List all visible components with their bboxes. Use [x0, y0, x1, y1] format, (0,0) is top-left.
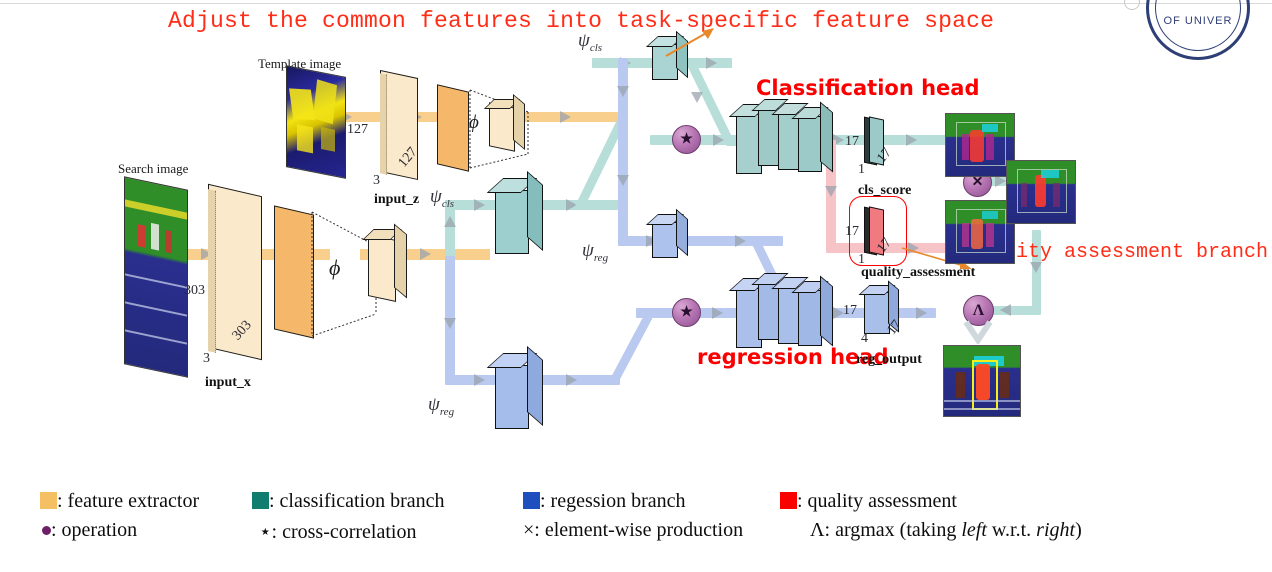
seal-text: OF UNIVER [1149, 15, 1247, 27]
arrow-head [444, 318, 456, 329]
arrow-head [560, 111, 571, 123]
reg-output-label: reg_output [856, 352, 922, 368]
psi-reg-cube-bottom-sideface [527, 346, 543, 426]
cross-correlation-operator-reg[interactable]: ★ [672, 298, 701, 327]
psi-cls-cube-mid-front [495, 190, 529, 254]
classification-response-map [945, 113, 1015, 177]
input-z-slab-depth [380, 73, 387, 174]
template-feature-cube [489, 102, 515, 152]
psi-cls-top-label: ψcls [578, 30, 602, 54]
arrow-head [825, 186, 837, 197]
legend-item-operation: : operation [42, 519, 137, 542]
search-feature-cube [368, 234, 396, 302]
legend-label: ) [1075, 519, 1082, 541]
legend-label: : quality assessment [797, 490, 957, 512]
cls-conv-slab-4 [798, 116, 822, 172]
arrow-head [617, 86, 629, 97]
input-x-slab-depth [208, 189, 216, 353]
reg-conv-stack-side [820, 276, 833, 347]
reg-conv-slab-4 [798, 290, 822, 346]
argmax-output-arrow [962, 320, 996, 344]
legend-label-right: right [1036, 519, 1075, 541]
arrow-head [474, 199, 485, 211]
psi-subscript: cls [590, 42, 602, 54]
tracking-result-image [943, 345, 1021, 417]
pipe-blue-diagonal-up [607, 318, 652, 384]
search-backbone-symbol: ϕ [329, 255, 340, 281]
legend-item-cross-correlation: ⋆: cross-correlation [259, 519, 416, 544]
psi-symbol: ψ [428, 394, 440, 415]
university-seal-watermark: OF UNIVER [1146, 0, 1250, 60]
lambda-icon: Λ [810, 519, 825, 541]
arrow-head [1000, 304, 1011, 316]
swatch-feature-extractor [40, 492, 57, 509]
arrow-head [735, 235, 746, 247]
arrow-head [906, 134, 917, 146]
legend-label: : operation [51, 519, 137, 541]
cls-score-dim-c: 1 [858, 162, 865, 178]
psi-symbol: ψ [430, 186, 442, 207]
search-feature-cube-side [394, 224, 407, 299]
legend-item-quality-assessment: : quality assessment [780, 490, 957, 513]
legend-label: w.r.t. [987, 519, 1036, 541]
arrow-head [617, 175, 629, 186]
star-icon: ⋆ [259, 521, 272, 543]
legend-label: : argmax (taking [825, 519, 962, 541]
legend-item-feature-extractor: : feature extractor [40, 490, 199, 513]
search-image-thumbnail [124, 176, 188, 378]
lambda-icon: Λ [973, 302, 984, 320]
times-icon: × [523, 519, 534, 541]
swatch-quality-assessment [780, 492, 797, 509]
psi-reg-cube-bottom-front [495, 365, 529, 429]
arrow-head [713, 134, 724, 146]
legend-label: : feature extractor [57, 490, 199, 512]
decorative-circle [1124, 0, 1140, 10]
arrow-head [916, 307, 927, 319]
classification-head-annotation: Classification head [756, 76, 979, 100]
psi-reg-cube-mid-front [652, 222, 678, 258]
legend-item-classification-branch: : classification branch [252, 490, 445, 513]
arrow-head [566, 374, 577, 386]
input-x-label: input_x [205, 375, 251, 391]
cls-conv-stack-side [820, 102, 833, 173]
dot-icon [42, 526, 51, 535]
psi-cls-mid-label: ψcls [430, 186, 454, 210]
legend-label: : element-wise production [534, 519, 743, 541]
template-image-thumbnail [286, 65, 346, 179]
input-x-dim-c: 3 [203, 351, 210, 367]
legend-label: : cross-correlation [272, 521, 417, 543]
swatch-regression-branch [523, 492, 540, 509]
arrow-head [474, 374, 485, 386]
psi-symbol: ψ [578, 30, 590, 51]
legend-item-regression-branch: : regession branch [523, 490, 686, 513]
quality-dim-h: 17 [845, 224, 859, 240]
reg-output-dim-c: 4 [861, 331, 868, 347]
pipe-blue-mid-riser [618, 145, 628, 240]
arrow-head [444, 216, 456, 227]
template-backbone-symbol: ϕ [469, 112, 479, 134]
legend-item-argmax: Λ: argmax (taking left w.r.t. right) [810, 519, 1082, 542]
psi-reg-mid-label: ψreg [582, 240, 608, 264]
psi-subscript: reg [440, 406, 454, 418]
psi-subscript: cls [442, 198, 454, 210]
psi-subscript: reg [594, 252, 608, 264]
psi-symbol: ψ [582, 240, 594, 261]
merged-response-map [1006, 160, 1076, 224]
figure-canvas: OF UNIVER Adjust the common features int… [0, 0, 1272, 572]
input-x-dim-h: 303 [184, 283, 205, 299]
star-icon: ★ [680, 304, 693, 321]
title-callout-arrow [664, 26, 720, 60]
quality-response-map [945, 200, 1015, 264]
legend-label: : regession branch [540, 490, 686, 512]
legend-label-left: left [961, 519, 987, 541]
template-feature-cube-side [513, 94, 525, 150]
input-z-dim-c: 3 [373, 173, 380, 189]
reg-output-dim-h: 17 [843, 303, 857, 319]
input-z-dim-h: 127 [347, 122, 368, 138]
slide-top-rule [0, 3, 1272, 4]
cls-score-dim-h: 17 [845, 134, 859, 150]
arrow-head [712, 307, 723, 319]
pipe-blue-top-riser [618, 58, 628, 146]
cross-correlation-operator-cls[interactable]: ★ [672, 125, 701, 154]
legend-item-element-wise: ×: element-wise production [523, 519, 743, 542]
star-icon: ★ [680, 131, 693, 148]
swatch-classification-branch [252, 492, 269, 509]
arrow-head [420, 248, 431, 260]
legend-label: : classification branch [269, 490, 445, 512]
psi-reg-bottom-label: ψreg [428, 394, 454, 418]
psi-cls-cube-mid-sideface [527, 171, 543, 251]
search-image-caption: Search image [118, 161, 188, 177]
arrow-head [691, 92, 703, 103]
